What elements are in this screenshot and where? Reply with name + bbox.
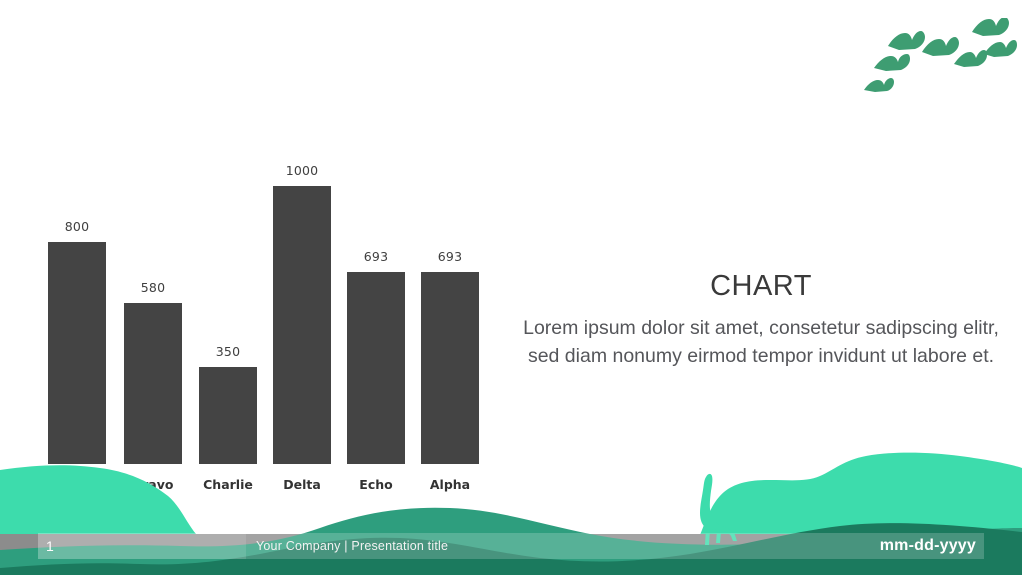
bar-rect[interactable] bbox=[48, 242, 106, 464]
bar-column[interactable]: 693 Alpha bbox=[421, 272, 479, 464]
bar-value-label: 350 bbox=[199, 344, 257, 359]
footer-bar: 1 Your Company | Presentation title mm-d… bbox=[38, 533, 984, 559]
flying-birds-flock-icon bbox=[852, 18, 1022, 110]
page-title: CHART bbox=[520, 270, 1002, 303]
bar-value-label: 580 bbox=[124, 280, 182, 295]
bar-column[interactable]: 1000 Delta bbox=[273, 186, 331, 464]
bar-column[interactable]: 800 Alpha bbox=[48, 242, 106, 464]
slide-canvas: 800 Alpha 580 Bravo 350 Charlie 1000 Del… bbox=[0, 0, 1022, 575]
bar-rect[interactable] bbox=[421, 272, 479, 464]
bar-value-label: 693 bbox=[421, 249, 479, 264]
text-block: CHART Lorem ipsum dolor sit amet, conset… bbox=[520, 270, 1002, 371]
footer-date: mm-dd-yyyy bbox=[880, 537, 984, 555]
bar-rect[interactable] bbox=[347, 272, 405, 464]
bar-value-label: 693 bbox=[347, 249, 405, 264]
bar-value-label: 1000 bbox=[273, 163, 331, 178]
body-paragraph: Lorem ipsum dolor sit amet, consetetur s… bbox=[520, 315, 1002, 371]
bar-rect[interactable] bbox=[273, 186, 331, 464]
footer-company-title: Your Company | Presentation title bbox=[246, 539, 880, 553]
bar-value-label: 800 bbox=[48, 219, 106, 234]
slide-number: 1 bbox=[38, 533, 246, 559]
bar-column[interactable]: 693 Echo bbox=[347, 272, 405, 464]
